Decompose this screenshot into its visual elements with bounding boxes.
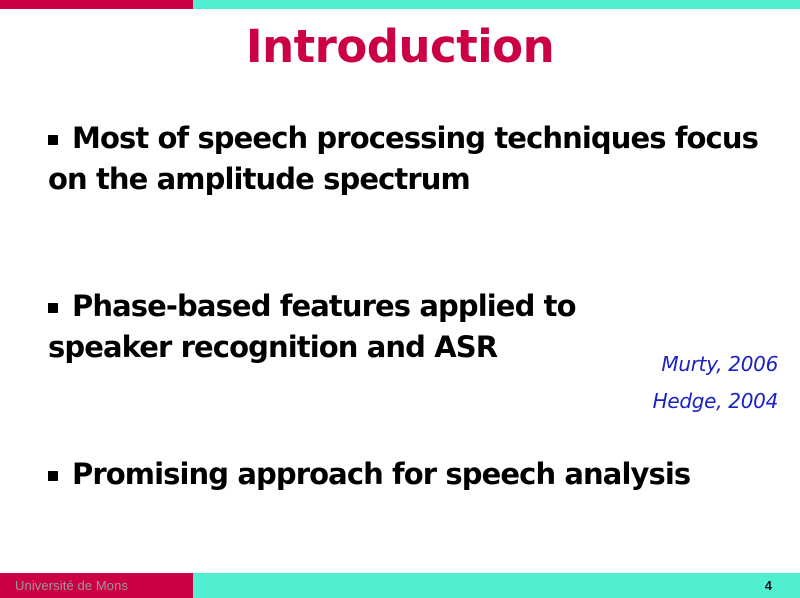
page-number: 4 [765,578,800,593]
slide-title: Introduction [0,20,800,74]
square-bullet-icon [48,135,58,145]
bullet-item: Most of speech processing techniques foc… [48,118,768,200]
footer-brand-band: Université de Mons [0,573,193,598]
bullet-text: Most of speech processing techniques foc… [48,121,758,196]
top-accent-bar-crimson-segment [0,0,193,9]
footer-teal-band: 4 [193,573,800,598]
top-accent-bar [0,0,800,9]
square-bullet-icon [48,471,58,481]
square-bullet-icon [48,303,58,313]
footer-brand-label: Université de Mons [0,578,128,593]
slide: Introduction Most of speech processing t… [0,0,800,598]
citation-entry: Hedge, 2004 [548,383,778,420]
bullet-text: Phase-based features applied to speaker … [48,289,576,364]
bullet-item: Promising approach for speech analysis [48,454,768,495]
citation-entry: Murty, 2006 [548,346,778,383]
slide-footer: Université de Mons 4 [0,573,800,598]
citation-list: Murty, 2006 Hedge, 2004 [548,346,778,420]
bullet-text: Promising approach for speech analysis [72,457,690,491]
top-accent-bar-teal-segment [193,0,800,9]
bullet-item: Phase-based features applied to speaker … [48,286,608,368]
